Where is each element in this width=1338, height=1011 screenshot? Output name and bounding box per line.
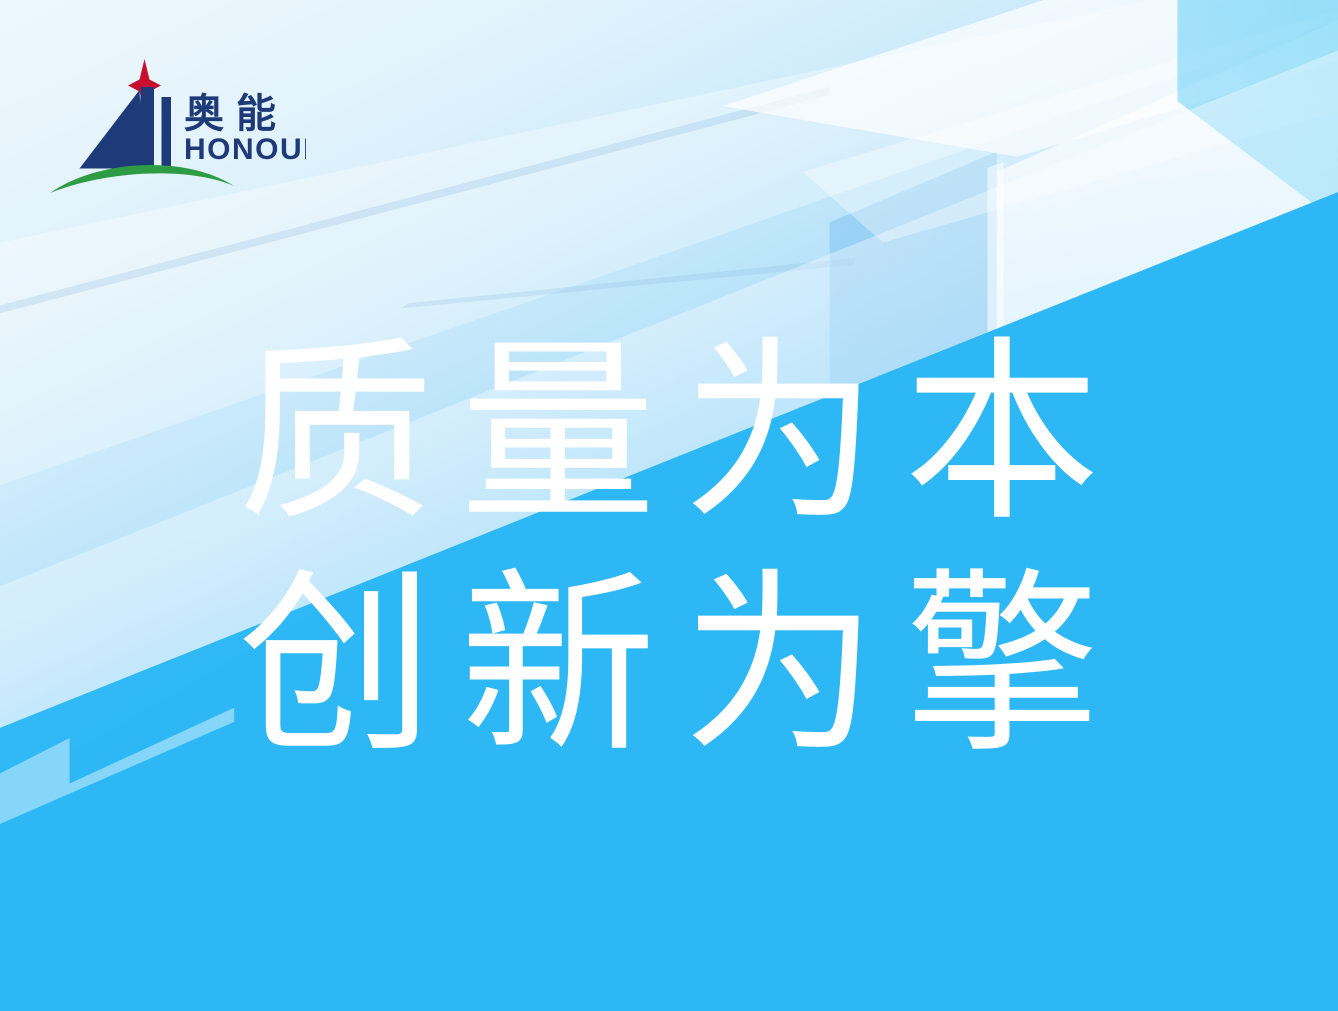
green-arc-icon (50, 165, 234, 193)
company-logo: 奥能 HONOUR (48, 55, 306, 195)
poster-canvas: 奥能 HONOUR 质量为本 创新为擎 (0, 0, 1338, 1011)
slogan-line-1: 质量为本 (0, 318, 1338, 550)
logo-chinese-name: 奥能 (184, 91, 288, 137)
slogan-block: 质量为本 创新为擎 (0, 318, 1338, 782)
logo-bar-icon (162, 97, 172, 169)
mountain-a-mark-icon (80, 87, 155, 169)
logo-latin-name: HONOUR (184, 133, 306, 166)
slogan-line-2: 创新为擎 (0, 550, 1338, 782)
